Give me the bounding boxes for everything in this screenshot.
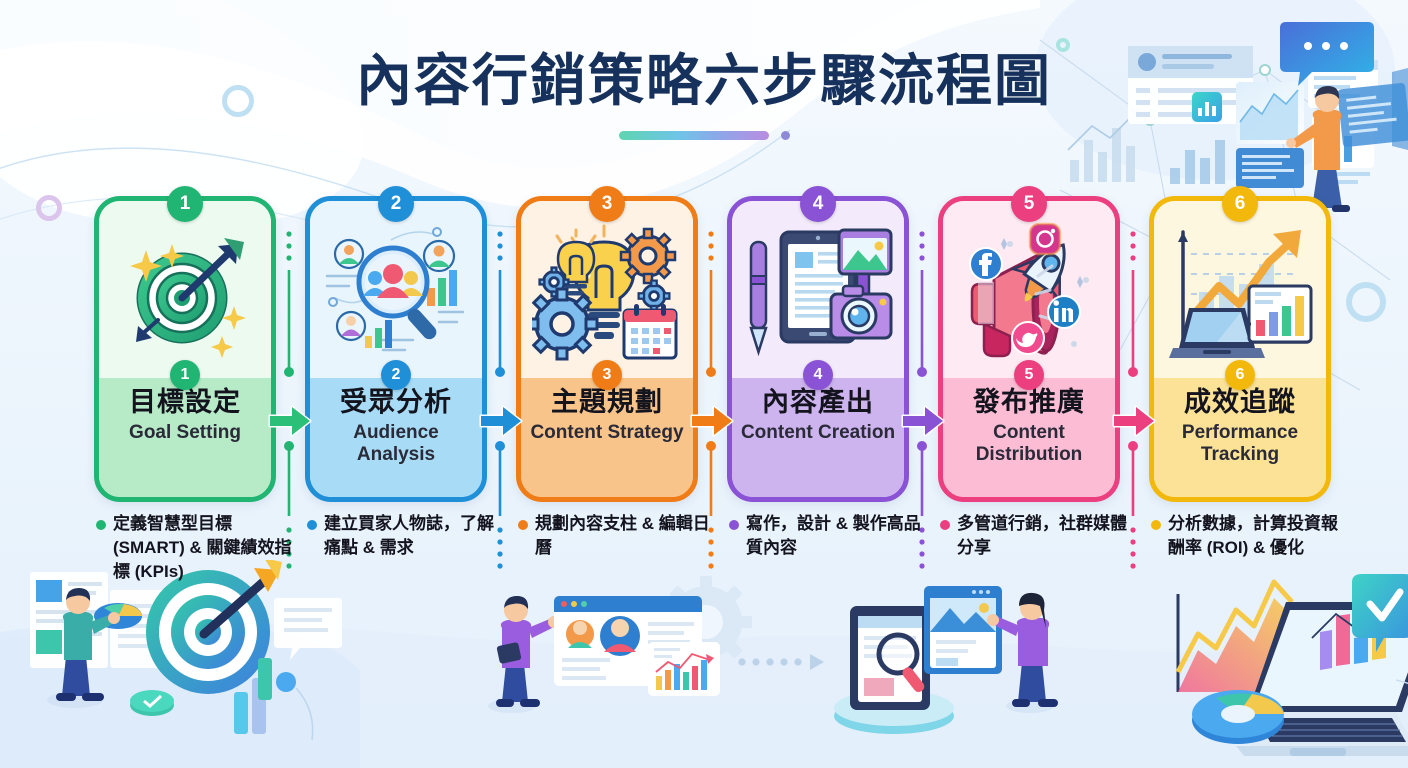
step-bullet-1: 定義智慧型目標 (SMART) & 關鍵績效指標 (KPIs) (96, 512, 292, 584)
step-card-2[interactable]: 受眾分析Audience Analysis (305, 196, 487, 502)
step-bullet-5: 多管道行銷，社群媒體分享 (940, 512, 1136, 560)
step-bullet-3: 規劃內容支柱 & 編輯日曆 (518, 512, 714, 560)
step-card-6[interactable]: 成效追蹤Performance Tracking (1149, 196, 1331, 502)
step-number-badge-top-3: 3 (589, 186, 625, 222)
flow-arrow-2-to-3 (479, 404, 523, 438)
step-bullet-4: 寫作，設計 & 製作高品質內容 (729, 512, 925, 560)
step-number-badge-top-4: 4 (800, 186, 836, 222)
step-label-block: 主題規劃Content Strategy (521, 387, 693, 444)
step-bullet-2: 建立買家人物誌，了解痛點 & 需求 (307, 512, 503, 560)
flow-arrow-1-to-2 (268, 404, 312, 438)
step-number-badge-top-2: 2 (378, 186, 414, 222)
step-number-badge-top-1: 1 (167, 186, 203, 222)
megaphone-rocket-social-icon (943, 215, 1115, 375)
step-title-zh: 發布推廣 (949, 387, 1109, 419)
bullet-text: 分析數據，計算投資報酬率 (ROI) & 優化 (1168, 512, 1347, 560)
magnifier-people-icon (310, 215, 482, 375)
page-title: 內容行銷策略六步驟流程圖 (0, 36, 1408, 117)
bullet-dot-icon (940, 520, 950, 530)
bullet-text: 多管道行銷，社群媒體分享 (957, 512, 1136, 560)
step-card-3[interactable]: 主題規劃Content Strategy (516, 196, 698, 502)
step-bullet-6: 分析數據，計算投資報酬率 (ROI) & 優化 (1151, 512, 1347, 560)
step-number-badge-mid-2: 2 (381, 360, 411, 390)
bullet-text: 定義智慧型目標 (SMART) & 關鍵績效指標 (KPIs) (113, 512, 292, 584)
step-number-badge-mid-6: 6 (1225, 360, 1255, 390)
step-title-zh: 內容產出 (738, 387, 898, 419)
flow-arrow-3-to-4 (690, 404, 734, 438)
bullet-dot-icon (307, 520, 317, 530)
bullet-text: 建立買家人物誌，了解痛點 & 需求 (324, 512, 503, 560)
bullet-dot-icon (1151, 520, 1161, 530)
step-title-en: Goal Setting (105, 422, 265, 444)
connector-line-upper-4 (920, 228, 924, 378)
step-title-en: Content Creation (738, 422, 898, 444)
step-label-block: 成效追蹤Performance Tracking (1154, 387, 1326, 466)
bullet-dot-icon (518, 520, 528, 530)
step-number-badge-top-6: 6 (1222, 186, 1258, 222)
title-accent-dot (781, 131, 790, 140)
step-number-badge-mid-3: 3 (592, 360, 622, 390)
step-title-zh: 目標設定 (105, 387, 265, 419)
bullet-text: 規劃內容支柱 & 編輯日曆 (535, 512, 714, 560)
step-title-zh: 受眾分析 (316, 387, 476, 419)
step-number-badge-top-5: 5 (1011, 186, 1047, 222)
connector-line-upper-1 (287, 228, 291, 378)
page-title-block: 內容行銷策略六步驟流程圖 (0, 36, 1408, 140)
step-title-en: Content Distribution (949, 422, 1109, 466)
step-label-block: 目標設定Goal Setting (99, 387, 271, 444)
connector-line-upper-2 (498, 228, 502, 378)
flow-arrow-4-to-5 (901, 404, 945, 438)
step-number-badge-mid-1: 1 (170, 360, 200, 390)
target-arrow-icon (99, 215, 271, 375)
step-number-badge-mid-4: 4 (803, 360, 833, 390)
step-title-en: Performance Tracking (1160, 422, 1320, 466)
step-label-block: 內容產出Content Creation (732, 387, 904, 444)
lightbulb-gears-calendar-icon (521, 215, 693, 375)
bullet-text: 寫作，設計 & 製作高品質內容 (746, 512, 925, 560)
step-card-4[interactable]: 內容產出Content Creation (727, 196, 909, 502)
step-card-5[interactable]: 發布推廣Content Distribution (938, 196, 1120, 502)
step-title-zh: 成效追蹤 (1160, 387, 1320, 419)
step-title-zh: 主題規劃 (527, 387, 687, 419)
title-gradient-bar (619, 131, 769, 140)
step-title-en: Content Strategy (527, 422, 687, 444)
title-underline (0, 131, 1408, 140)
flow-arrow-5-to-6 (1112, 404, 1156, 438)
step-label-block: 發布推廣Content Distribution (943, 387, 1115, 466)
connector-line-upper-5 (1131, 228, 1135, 378)
growth-chart-laptop-icon (1154, 215, 1326, 375)
bullet-dot-icon (96, 520, 106, 530)
step-number-badge-mid-5: 5 (1014, 360, 1044, 390)
step-label-block: 受眾分析Audience Analysis (310, 387, 482, 466)
bullet-dot-icon (729, 520, 739, 530)
step-title-en: Audience Analysis (316, 422, 476, 466)
connector-line-upper-3 (709, 228, 713, 378)
step-card-1[interactable]: 目標設定Goal Setting (94, 196, 276, 502)
tablet-pen-camera-icon (732, 215, 904, 375)
